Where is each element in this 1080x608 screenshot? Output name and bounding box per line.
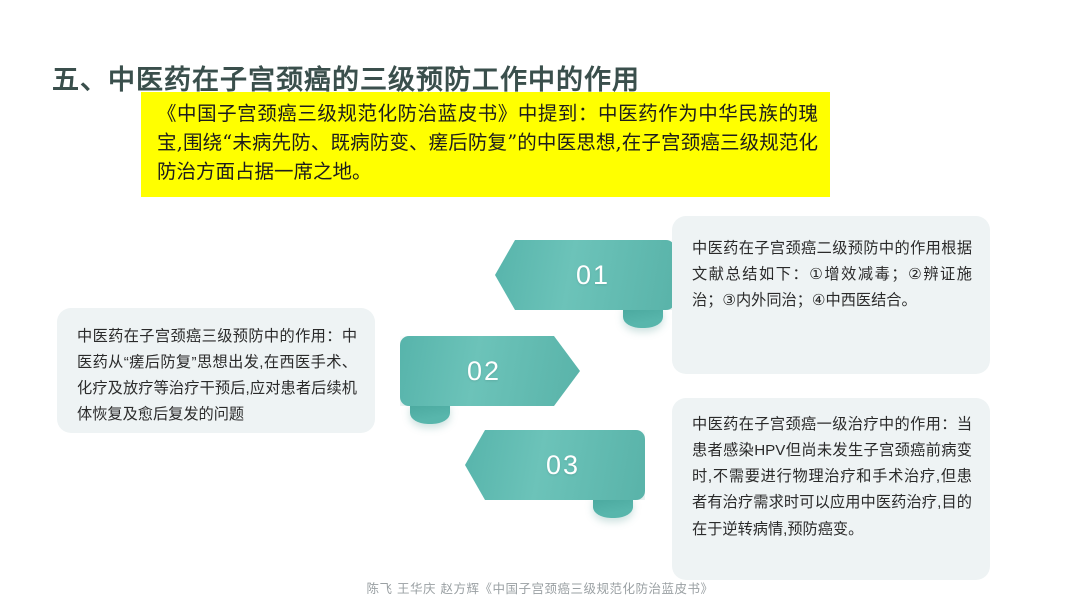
ribbon-banner-03[interactable]: 03	[465, 430, 645, 500]
ribbon-body-03	[465, 430, 645, 500]
info-panel-level3: 中医药在子宫颈癌三级预防中的作用：中医药从“瘥后防复”思想出发,在西医手术、化疗…	[57, 308, 375, 433]
ribbon-banner-01[interactable]: 01	[495, 240, 675, 310]
ribbon-body-01	[495, 240, 675, 310]
info-panel-level1: 中医药在子宫颈癌一级治疗中的作用：当患者感染HPV但尚未发生子宫颈癌前病变时,不…	[672, 398, 990, 580]
ribbon-body-02	[400, 336, 580, 406]
quote-text: 《中国子宫颈癌三级规范化防治蓝皮书》中提到：中医药作为中华民族的瑰宝,围绕“未病…	[157, 100, 818, 187]
ribbon-banner-02[interactable]: 02	[400, 336, 580, 406]
info-panel-level2-text: 中医药在子宫颈癌二级预防中的作用根据文献总结如下：①增效减毒；②辨证施治；③内外…	[692, 236, 972, 314]
info-panel-level2: 中医药在子宫颈癌二级预防中的作用根据文献总结如下：①增效减毒；②辨证施治；③内外…	[672, 216, 990, 374]
highlighted-quote-box: 《中国子宫颈癌三级规范化防治蓝皮书》中提到：中医药作为中华民族的瑰宝,围绕“未病…	[141, 92, 830, 197]
info-panel-level3-text: 中医药在子宫颈癌三级预防中的作用：中医药从“瘥后防复”思想出发,在西医手术、化疗…	[77, 324, 357, 429]
footer-citation: 陈飞 王华庆 赵方辉《中国子宫颈癌三级规范化防治蓝皮书》	[0, 578, 1080, 597]
slide-canvas: 五、中医药在子宫颈癌的三级预防工作中的作用 《中国子宫颈癌三级规范化防治蓝皮书》…	[0, 0, 1080, 608]
info-panel-level1-text: 中医药在子宫颈癌一级治疗中的作用：当患者感染HPV但尚未发生子宫颈癌前病变时,不…	[692, 412, 972, 543]
